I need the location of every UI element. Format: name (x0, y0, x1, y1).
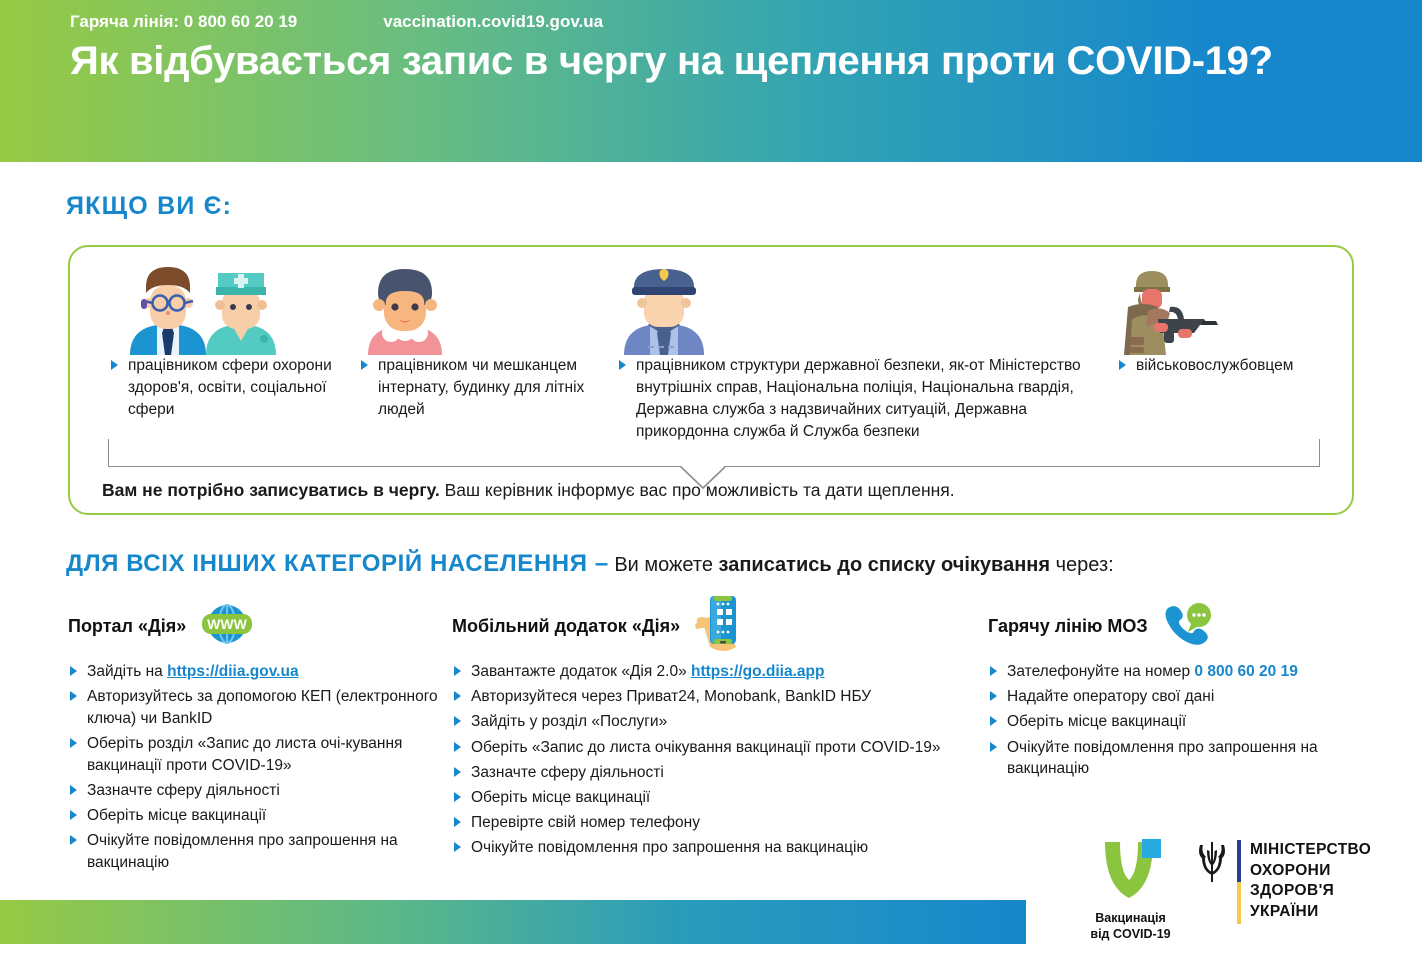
ministry-name: МІНІСТЕРСТВО ОХОРОНИ ЗДОРОВ'Я УКРАЇНИ (1250, 840, 1371, 924)
eligible-categories-box: працівником сфери охорони здоров'я, осві… (68, 245, 1354, 515)
channel-title: Портал «Дія» (68, 616, 186, 637)
avatar-group-4 (1118, 263, 1353, 355)
channel-header: Гарячу лінію МОЗ (988, 605, 1388, 647)
list-item: Оберіть місце вакцинації (452, 787, 982, 809)
page-footer (0, 900, 1026, 944)
avatar-group-1 (110, 263, 360, 355)
phone-chat-icon (1160, 602, 1216, 651)
category-military: військовослужбовцем (1118, 263, 1353, 377)
section-all-heading-text-1: Ви можете (609, 554, 719, 576)
list-item: Перевірте свій номер телефону (452, 812, 982, 834)
no-queue-rest: Ваш керівник інформує вас про можливість… (440, 480, 955, 500)
channel-mobile-app-diia: Мобільний додаток «Дія» Завантажте додат (452, 605, 982, 863)
police-officer-icon (618, 263, 710, 355)
category-state-security: працівником структури державної безпеки,… (618, 263, 1088, 443)
footer-website[interactable]: vaccination.covid19.gov.ua (383, 12, 603, 32)
hotline-number[interactable]: 0 800 60 20 19 (1194, 663, 1297, 680)
footer-hotline[interactable]: Гаряча лінія: 0 800 60 20 19 (70, 12, 297, 32)
soldier-icon (1118, 263, 1228, 355)
footer-content: Гаряча лінія: 0 800 60 20 19 vaccination… (70, 0, 603, 44)
steps-list: Зателефонуйте на номер 0 800 60 20 19 На… (988, 661, 1388, 780)
list-item: Завантажте додаток «Дія 2.0» https://go.… (452, 661, 982, 683)
steps-list: Зайдіть на https://diia.gov.ua Авторизуй… (68, 661, 453, 874)
flag-bars (1237, 840, 1241, 924)
category-text: працівником структури державної безпеки,… (618, 355, 1088, 443)
diia-app-link[interactable]: https://go.diia.app (691, 663, 824, 680)
list-item: Зайдіть на https://diia.gov.ua (68, 661, 453, 683)
category-text: працівником сфери охорони здоров'я, осві… (110, 355, 360, 421)
channel-title: Гарячу лінію МОЗ (988, 616, 1148, 637)
list-item: Зазначте сферу діяльності (68, 780, 453, 802)
ministry-line-3: ЗДОРОВ'Я (1250, 881, 1371, 902)
category-healthcare-education: працівником сфери охорони здоров'я, осві… (110, 263, 360, 421)
step-text: Завантажте додаток «Дія 2.0» (471, 663, 691, 680)
ministry-line-2: ОХОРОНИ (1250, 861, 1371, 882)
category-nursing-home: працівником чи мешканцем інтернату, буди… (360, 263, 600, 421)
list-item: Надайте оператору свої дані (988, 686, 1388, 708)
vaccination-logo-caption: Вакцинація від COVID-19 (1073, 911, 1188, 942)
list-item: Авторизуйтесь за допомогою КЕП (електрон… (68, 686, 453, 729)
list-item: Зазначте сферу діяльності (452, 762, 982, 784)
no-queue-note: Вам не потрібно записуватись в чергу. Ва… (102, 479, 1322, 502)
vaccination-logo: Вакцинація від COVID-19 (1073, 838, 1188, 942)
list-item: Оберіть місце вакцинації (988, 711, 1388, 733)
step-text: Зайдіть на (87, 663, 167, 680)
list-item: Очікуйте повідомлення про запрошення на … (68, 830, 453, 873)
hand-smartphone-icon (692, 595, 748, 658)
categories-row: працівником сфери охорони здоров'я, осві… (70, 247, 1352, 513)
svg-text:WWW: WWW (207, 616, 247, 632)
caption-line-1: Вакцинація (1073, 911, 1188, 927)
elderly-woman-icon (360, 263, 450, 355)
section-all-heading-text-2: через: (1050, 554, 1114, 576)
avatar-group-2 (360, 263, 600, 355)
ukraine-trident-icon (1196, 840, 1228, 924)
list-item: Очікуйте повідомлення про запрошення на … (988, 737, 1388, 780)
section-all-heading: ДЛЯ ВСІХ ІНШИХ КАТЕГОРІЙ НАСЕЛЕННЯ – Ви … (66, 550, 1396, 578)
channel-title: Мобільний додаток «Дія» (452, 616, 680, 637)
caption-line-2: від COVID-19 (1073, 927, 1188, 943)
list-item: Авторизуйтеся через Приват24, Monobank, … (452, 686, 982, 708)
ministry-line-1: МІНІСТЕРСТВО (1250, 840, 1371, 861)
diia-portal-link[interactable]: https://diia.gov.ua (167, 663, 298, 680)
list-item: Оберіть «Запис до листа очікування вакци… (452, 737, 982, 759)
section-if-label: ЯКЩО ВИ Є: (66, 192, 232, 221)
steps-list: Завантажте додаток «Дія 2.0» https://go.… (452, 661, 982, 859)
list-item: Оберіть розділ «Запис до листа очі-куван… (68, 733, 453, 776)
channel-moz-hotline: Гарячу лінію МОЗ Зателефонуйте на номер … (988, 605, 1388, 783)
avatar-group-3 (618, 263, 1088, 355)
section-all-heading-emphasis: ДЛЯ ВСІХ ІНШИХ КАТЕГОРІЙ НАСЕЛЕННЯ – (66, 550, 609, 577)
list-item: Зайдіть у розділ «Послуги» (452, 711, 982, 733)
channel-portal-diia: Портал «Дія» WWW Зайдіть на https://diia… (68, 605, 453, 877)
list-item: Очікуйте повідомлення про запрошення на … (452, 837, 982, 859)
section-all-heading-bold: записатись до списку очікування (719, 554, 1051, 576)
channel-header: Мобільний додаток «Дія» (452, 605, 982, 647)
ministry-line-4: УКРАЇНИ (1250, 902, 1371, 923)
category-text: військовослужбовцем (1118, 355, 1353, 377)
teacher-and-doctor-icons (110, 263, 295, 355)
ministry-of-health-logo: МІНІСТЕРСТВО ОХОРОНИ ЗДОРОВ'Я УКРАЇНИ (1196, 840, 1371, 924)
no-queue-bold: Вам не потрібно записуватись в чергу. (102, 480, 440, 500)
channel-header: Портал «Дія» WWW (68, 605, 453, 647)
category-text: працівником чи мешканцем інтернату, буди… (360, 355, 600, 421)
v-checkmark-logo (1095, 891, 1167, 908)
step-text: Зателефонуйте на номер (1007, 663, 1194, 680)
globe-www-icon: WWW (198, 603, 256, 650)
list-item: Зателефонуйте на номер 0 800 60 20 19 (988, 661, 1388, 683)
list-item: Оберіть місце вакцинації (68, 805, 453, 827)
